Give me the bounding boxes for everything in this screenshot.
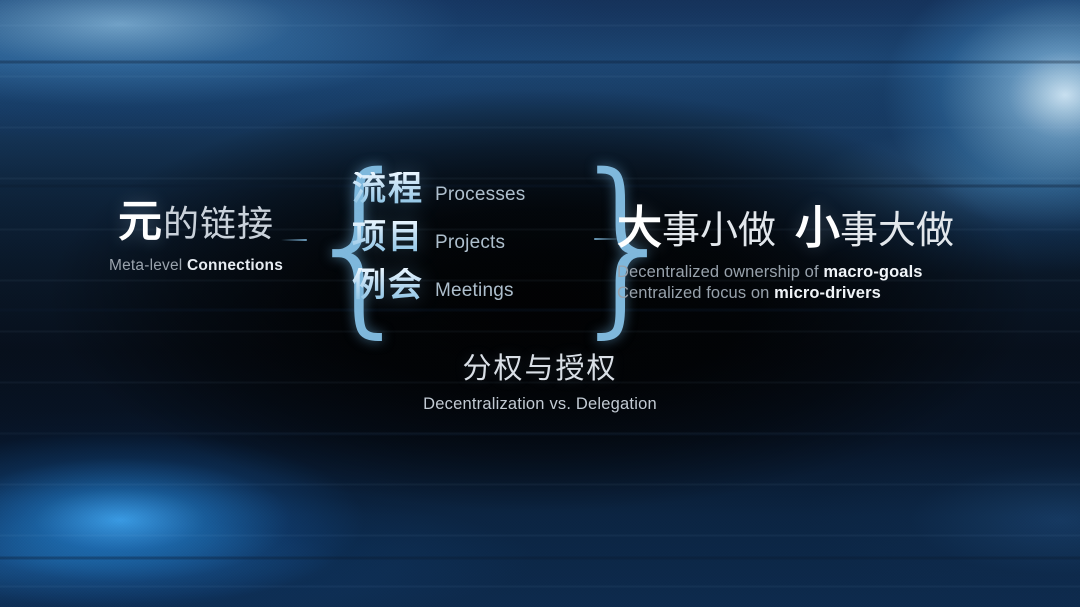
slide-canvas: 元的链接 Meta-level Connections { } 流程 Proce… — [0, 0, 1080, 607]
bottom-caption-block: 分权与授权 Decentralization vs. Delegation — [0, 352, 1080, 414]
left-chinese-rest: 的链接 — [163, 204, 274, 245]
middle-items-list: 流程 Processes 项目 Projects 例会 Meetings — [352, 172, 562, 316]
slide-content: 元的链接 Meta-level Connections { } 流程 Proce… — [0, 0, 1080, 607]
right-concept-block: 大事小做小事大做 Decentralized ownership of macr… — [617, 205, 954, 304]
left-english-subtitle: Meta-level Connections — [96, 257, 296, 275]
right-english-line2-light: Centralized focus on — [617, 284, 774, 302]
middle-item-english: Projects — [435, 232, 505, 254]
middle-item-chinese: 流程 — [352, 172, 424, 206]
bottom-english-caption: Decentralization vs. Delegation — [0, 395, 1080, 414]
right-phrase2-rest: 事大做 — [840, 208, 954, 252]
middle-item-chinese: 项目 — [352, 220, 424, 254]
left-english-light: Meta-level — [109, 257, 187, 274]
right-phrase1-emphasis: 大 — [617, 201, 662, 254]
right-phrase1-rest: 事小做 — [662, 208, 776, 252]
left-english-strong: Connections — [187, 257, 283, 274]
right-english-line-1: Decentralized ownership of macro-goals — [617, 262, 954, 283]
left-chinese-heading: 元的链接 — [96, 200, 296, 244]
list-item: 项目 Projects — [352, 220, 562, 268]
right-english-line-2: Centralized focus on micro-drivers — [617, 283, 954, 304]
right-chinese-heading: 大事小做小事大做 — [617, 205, 954, 250]
middle-item-chinese: 例会 — [352, 268, 424, 302]
left-concept-block: 元的链接 Meta-level Connections — [96, 200, 296, 275]
bottom-chinese-caption: 分权与授权 — [0, 352, 1080, 385]
right-english-line1-light: Decentralized ownership of — [617, 263, 823, 281]
right-english-subtitle: Decentralized ownership of macro-goals C… — [617, 262, 954, 304]
right-english-line1-strong: macro-goals — [823, 263, 922, 281]
right-english-line2-strong: micro-drivers — [774, 284, 881, 302]
middle-item-english: Processes — [435, 184, 526, 206]
list-item: 流程 Processes — [352, 172, 562, 220]
right-phrase2-emphasis: 小 — [795, 201, 840, 254]
middle-item-english: Meetings — [435, 280, 514, 302]
left-chinese-emphasis: 元 — [118, 196, 163, 247]
list-item: 例会 Meetings — [352, 268, 562, 316]
